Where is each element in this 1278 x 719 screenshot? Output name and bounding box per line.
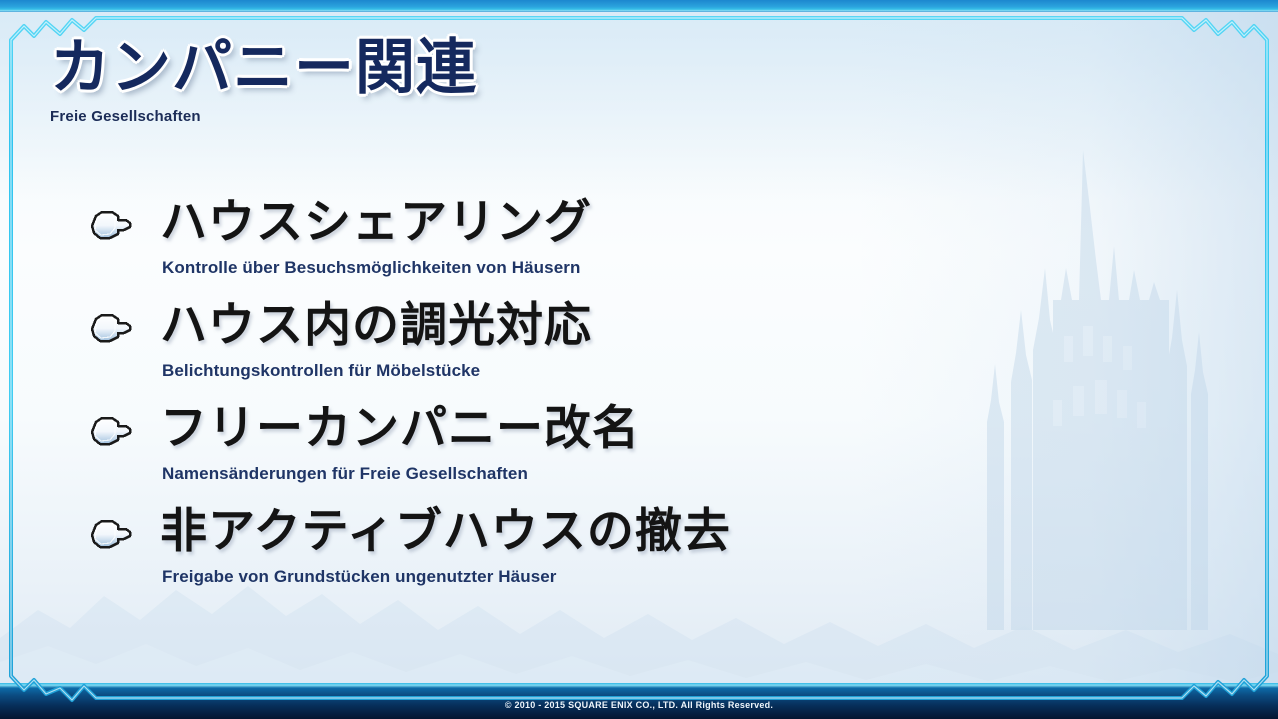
- list-item-subtitle: Belichtungskontrollen für Möbelstücke: [162, 361, 480, 381]
- list-item-subtitle: Kontrolle über Besuchsmöglichkeiten von …: [162, 258, 580, 278]
- page-title: カンパニー関連: [50, 38, 477, 98]
- pointing-hand-icon: [88, 208, 136, 242]
- list-item: ハウスシェアリング Kontrolle über Besuchsmöglichk…: [88, 196, 1138, 299]
- list-item-subtitle: Namensänderungen für Freie Gesellschafte…: [162, 464, 528, 484]
- pointing-hand-icon: [88, 311, 136, 345]
- list-item: 非アクティブハウスの撤去 Freigabe von Grundstücken u…: [88, 505, 1138, 608]
- top-accent-band: [0, 0, 1278, 12]
- list-item-title: 非アクティブハウスの撤去: [160, 505, 731, 558]
- presentation-slide: カンパニー関連 Freie Gesellschaften: [0, 0, 1278, 719]
- list-item-title: ハウス内の調光対応: [160, 299, 592, 352]
- list-item: ハウス内の調光対応 Belichtungskontrollen für Möbe…: [88, 299, 1138, 402]
- copyright-notice: © 2010 - 2015 SQUARE ENIX CO., LTD. All …: [0, 700, 1278, 710]
- page-subtitle: Freie Gesellschaften: [50, 108, 477, 125]
- slide-header: カンパニー関連 Freie Gesellschaften: [50, 38, 477, 125]
- list-item: フリーカンパニー改名 Namensänderungen für Freie Ge…: [88, 402, 1138, 505]
- pointing-hand-icon: [88, 414, 136, 448]
- pointing-hand-icon: [88, 517, 136, 551]
- list-item-title: ハウスシェアリング: [160, 196, 592, 249]
- feature-list: ハウスシェアリング Kontrolle über Besuchsmöglichk…: [88, 196, 1138, 608]
- list-item-title: フリーカンパニー改名: [160, 402, 640, 455]
- list-item-subtitle: Freigabe von Grundstücken ungenutzter Hä…: [162, 567, 557, 587]
